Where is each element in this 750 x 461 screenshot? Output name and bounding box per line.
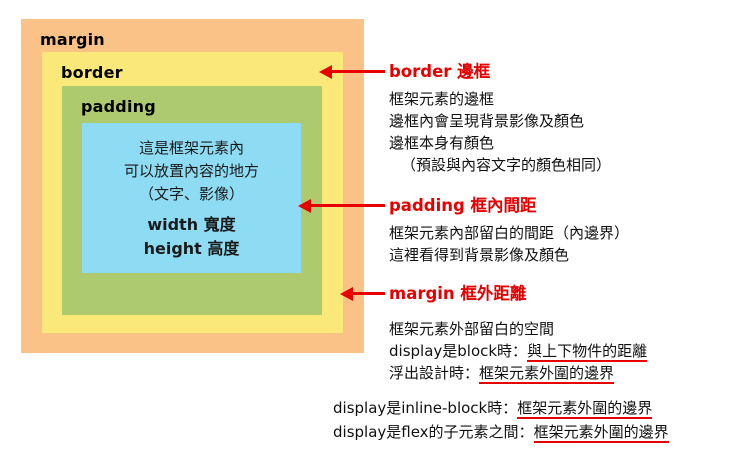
annotation-border-line-3: 邊框本身有顏色 [389,132,611,154]
annotation-margin-line-2-prefix: display是block時： [389,342,527,360]
annotation-margin-line-2-underlined: 與上下物件的距離 [527,342,647,362]
annotation-border: border 邊框 框架元素的邊框 邊框內會呈現背景影像及顏色 邊框本身有顏色 … [389,58,611,176]
annotation-margin-line-3: 浮出設計時：框架元素外圍的邊界 [389,362,647,384]
annotation-padding-title: padding 框內間距 [389,192,629,216]
content-line-2: 可以放置內容的地方 [82,160,301,183]
tail-line-1-underlined: 框架元素外圍的邊界 [517,399,652,419]
annotation-margin-line-3-underlined: 框架元素外圍的邊界 [479,364,614,384]
annotation-padding: padding 框內間距 框架元素內部留白的間距（內邊界） 這裡看得到背景影像及… [389,192,629,266]
annotation-column: border 邊框 框架元素的邊框 邊框內會呈現背景影像及顏色 邊框本身有顏色 … [389,0,750,461]
annotation-margin-line-2: display是block時：與上下物件的距離 [389,340,647,362]
content-line-1: 這是框架元素內 [82,137,301,160]
tail-line-2-prefix: display是flex的子元素之間： [333,423,534,441]
annotation-border-body: 框架元素的邊框 邊框內會呈現背景影像及顏色 邊框本身有顏色 （預設與內容文字的顏… [389,88,611,176]
arrow-shaft [308,204,385,207]
tail-line-1-prefix: display是inline-block時： [333,399,517,417]
annotation-margin-line-1: 框架元素外部留白的空間 [389,318,647,340]
annotation-border-title: border 邊框 [389,58,611,82]
padding-label: padding [81,97,156,116]
tail-line-2-underlined: 框架元素外圍的邊界 [534,423,669,443]
annotation-border-line-4: （預設與內容文字的顏色相同） [389,154,611,176]
tail-line-2: display是flex的子元素之間：框架元素外圍的邊界 [333,420,669,444]
annotation-margin: margin 框外距離 框架元素外部留白的空間 display是block時：與… [389,280,647,384]
annotation-padding-line-2: 這裡看得到背景影像及顏色 [389,244,629,266]
annotation-margin-line-3-prefix: 浮出設計時： [389,364,479,382]
content-spacer [82,206,301,213]
content-line-3: （文字、影像） [82,183,301,206]
content-text-block: 這是框架元素內 可以放置內容的地方 （文字、影像） width 寬度 heigh… [82,137,301,261]
annotation-border-line-1: 框架元素的邊框 [389,88,611,110]
content-width-line: width 寬度 [82,213,301,237]
content-height-line: height 高度 [82,237,301,261]
border-label: border [61,63,123,82]
annotation-padding-line-1: 框架元素內部留白的間距（內邊界） [389,222,629,244]
arrow-shaft [350,292,385,295]
css-box-model-diagram: margin border padding 這是框架元素內 可以放置內容的地方 … [21,19,364,353]
annotation-padding-body: 框架元素內部留白的間距（內邊界） 這裡看得到背景影像及顏色 [389,222,629,266]
margin-label: margin [40,30,105,49]
tail-line-1: display是inline-block時：框架元素外圍的邊界 [333,396,669,420]
annotation-margin-title: margin 框外距離 [389,280,647,304]
annotation-border-line-2: 邊框內會呈現背景影像及顏色 [389,110,611,132]
content-layer: 這是框架元素內 可以放置內容的地方 （文字、影像） width 寬度 heigh… [82,123,301,273]
arrow-shaft [329,70,385,73]
annotation-margin-body: 框架元素外部留白的空間 display是block時：與上下物件的距離 浮出設計… [389,310,647,384]
tail-note-block: display是inline-block時：框架元素外圍的邊界 display是… [333,396,669,444]
